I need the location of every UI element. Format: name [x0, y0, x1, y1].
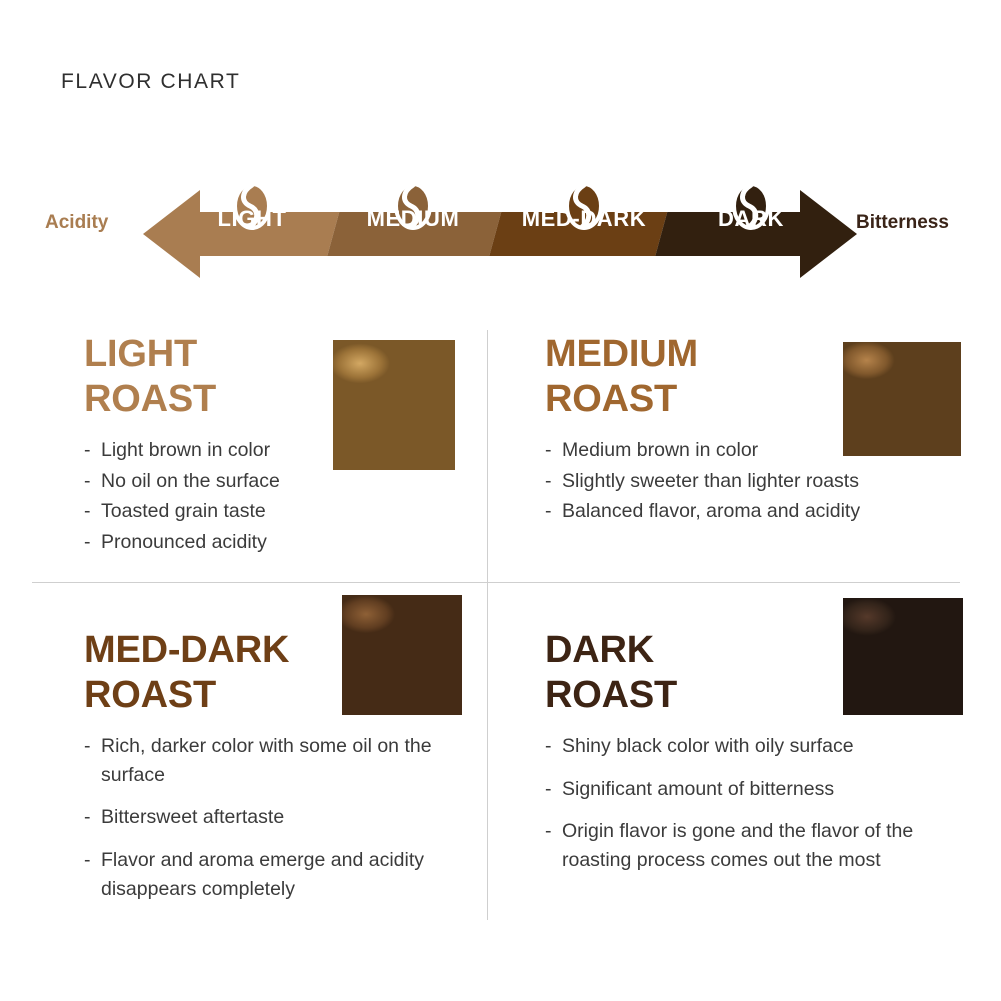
- scale-label-dark: DARK: [692, 206, 810, 232]
- scale-label-med-dark: MED-DARK: [505, 206, 663, 232]
- list-item: Origin flavor is gone and the flavor of …: [545, 817, 960, 875]
- vertical-divider: [487, 330, 488, 920]
- page-title: FLAVOR CHART: [61, 70, 240, 94]
- med-dark-roast-beans-photo: [342, 595, 462, 715]
- scale-label-medium: MEDIUM: [354, 206, 472, 232]
- list-item: Significant amount of bitterness: [545, 775, 960, 804]
- medium-roast-beans-photo: [843, 342, 961, 456]
- list-item: Toasted grain taste: [84, 497, 476, 526]
- list-item: Shiny black color with oily surface: [545, 732, 960, 761]
- list-item: Pronounced acidity: [84, 528, 476, 557]
- acidity-axis-label: Acidity: [45, 212, 108, 234]
- dark-roast-beans-photo: [843, 598, 963, 715]
- bitterness-axis-label: Bitterness: [856, 212, 949, 234]
- scale-label-light: LIGHT: [193, 206, 311, 232]
- roast-scale-arrow-graphic: [0, 160, 1001, 278]
- list-item: Balanced flavor, aroma and acidity: [545, 497, 960, 526]
- list-item: Rich, darker color with some oil on the …: [84, 732, 476, 790]
- light-roast-beans-photo: [333, 340, 455, 470]
- list-item: Bittersweet aftertaste: [84, 803, 476, 832]
- list-item: Slightly sweeter than lighter roasts: [545, 467, 960, 496]
- flavor-chart-page: FLAVOR CHART: [0, 0, 1001, 1001]
- horizontal-divider: [32, 582, 960, 583]
- roast-scale: Acidity Bitterness LIGHT MEDIUM MED-DARK…: [0, 160, 1001, 278]
- roast-bullets-dark: Shiny black color with oily surface Sign…: [545, 732, 960, 875]
- roast-bullets-med-dark: Rich, darker color with some oil on the …: [84, 732, 476, 904]
- list-item: Flavor and aroma emerge and acidity disa…: [84, 846, 476, 904]
- list-item: No oil on the surface: [84, 467, 476, 496]
